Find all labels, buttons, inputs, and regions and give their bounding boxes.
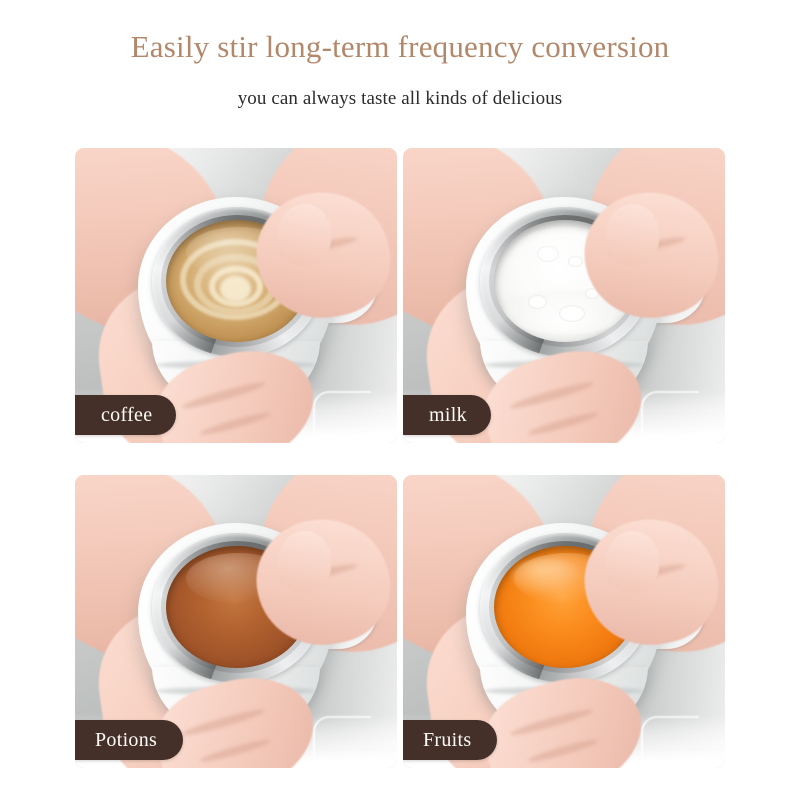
finger-crease	[509, 706, 593, 738]
gallery-item-potions[interactable]: Potions	[75, 475, 397, 768]
right-thumb	[277, 204, 331, 266]
right-thumb	[605, 204, 659, 266]
page-title: Easily stir long-term frequency conversi…	[0, 28, 800, 65]
product-gallery-grid: coffee	[75, 148, 725, 768]
gallery-item-fruits[interactable]: Fruits	[403, 475, 725, 768]
froth-bubble	[528, 295, 546, 308]
finger-crease	[527, 410, 599, 438]
label-badge-potions: Potions	[75, 720, 183, 760]
page-subtitle: you can always taste all kinds of delici…	[0, 88, 800, 110]
finger-crease	[199, 410, 271, 438]
label-badge-milk: milk	[403, 395, 491, 435]
finger-crease	[181, 379, 265, 411]
label-badge-fruits: Fruits	[403, 720, 497, 760]
finger-crease	[181, 706, 265, 738]
finger-crease	[199, 737, 271, 765]
right-thumb	[277, 531, 331, 593]
crema-center	[220, 276, 251, 303]
finger-crease	[509, 379, 593, 411]
finger-crease	[527, 737, 599, 765]
gallery-item-coffee[interactable]: coffee	[75, 148, 397, 443]
right-thumb	[605, 531, 659, 593]
label-badge-coffee: coffee	[75, 395, 176, 435]
gallery-item-milk[interactable]: milk	[403, 148, 725, 443]
page-header: Easily stir long-term frequency conversi…	[0, 0, 800, 110]
